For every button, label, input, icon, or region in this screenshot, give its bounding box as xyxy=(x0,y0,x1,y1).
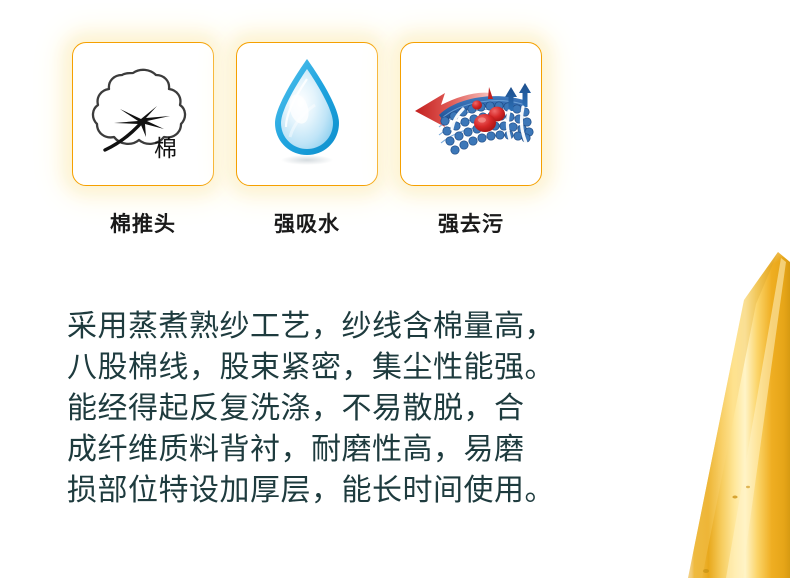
description-line-1: 采用蒸煮熟纱工艺，纱线含棉量高， xyxy=(67,306,537,347)
description-line-2: 八股棉线，股束紧密，集尘性能强。 xyxy=(67,347,537,388)
product-description: 采用蒸煮熟纱工艺，纱线含棉量高， 八股棉线，股束紧密，集尘性能强。 能经得起反复… xyxy=(67,306,537,511)
feature-label-cotton: 棉推头 xyxy=(72,208,214,238)
water-droplet-icon xyxy=(259,53,355,176)
feature-card-cotton-box[interactable]: 棉 xyxy=(72,42,214,186)
product-detail-page: 棉 棉推头 xyxy=(0,0,790,578)
description-line-3: 能经得起反复洗涤，不易散脱，合 xyxy=(67,388,537,429)
feature-card-absorption[interactable]: 强吸水 xyxy=(236,42,378,186)
feature-card-stain-box[interactable] xyxy=(400,42,542,186)
stain-removal-fabric-icon xyxy=(405,53,537,176)
cotton-boll-icon: 棉 xyxy=(84,53,202,176)
feature-card-absorption-box[interactable] xyxy=(236,42,378,186)
feature-label-stain: 强去污 xyxy=(400,208,542,238)
cotton-char: 棉 xyxy=(154,136,177,162)
description-line-5: 损部位特设加厚层，能长时间使用。 xyxy=(67,470,537,511)
feature-card-stain[interactable]: 强去污 xyxy=(400,42,542,186)
feature-label-absorption: 强吸水 xyxy=(236,208,378,238)
description-line-4: 成纤维质料背衬，耐磨性高，易磨 xyxy=(67,429,537,470)
feature-card-cotton[interactable]: 棉 棉推头 xyxy=(72,42,214,186)
